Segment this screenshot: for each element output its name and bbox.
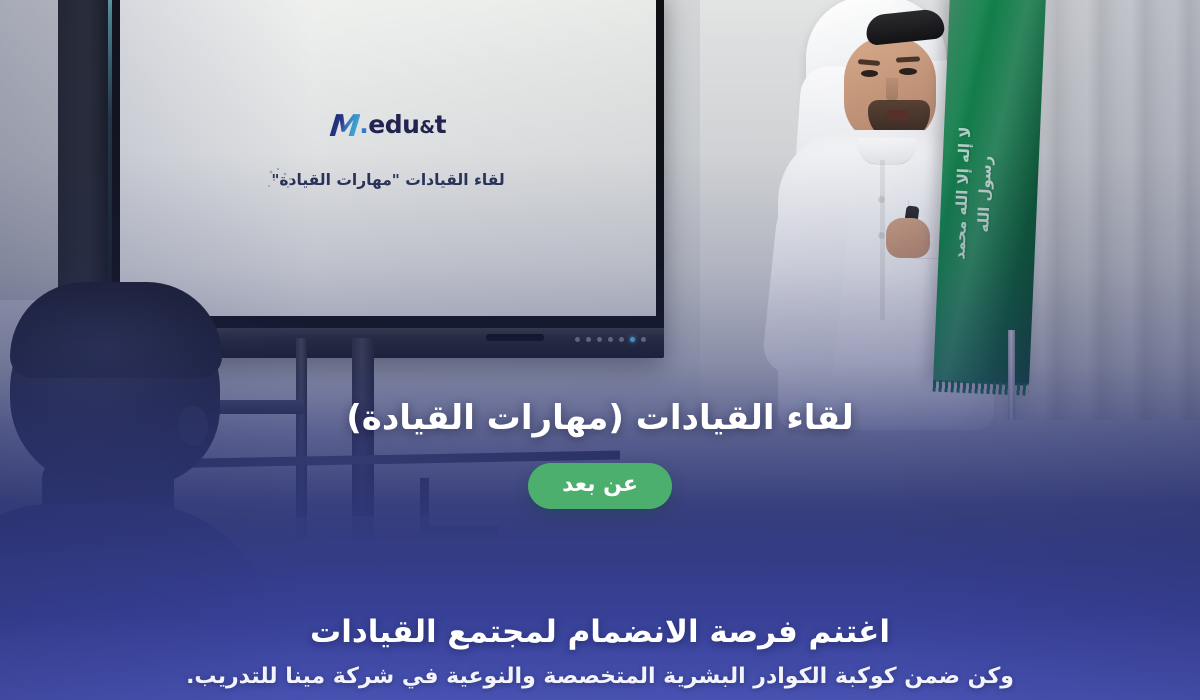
logo-m-icon: M xyxy=(328,109,361,144)
left-wall xyxy=(0,0,60,300)
flag-shahada-text: لا إله إلا الله محمد رسول الله xyxy=(947,102,1031,285)
logo-word: edu xyxy=(368,110,419,139)
control-button-icon[interactable] xyxy=(597,337,602,342)
display-speaker xyxy=(486,334,544,341)
presenter-eye xyxy=(861,70,878,77)
attendee-hair xyxy=(10,282,222,378)
display-screen: M.edu&t لقاء القيادات "مهارات القيادة" xyxy=(120,0,656,316)
slide-logo: M.edu&t xyxy=(120,106,656,141)
presenter-eye xyxy=(899,68,917,75)
control-button-icon[interactable] xyxy=(619,337,624,342)
saudi-flag: لا إله إلا الله محمد رسول الله xyxy=(933,0,1046,386)
presenter-button xyxy=(878,196,885,203)
presenter-mouth xyxy=(886,110,910,120)
presenter-hand-left xyxy=(886,218,930,258)
badge-wrapper: عن بعد xyxy=(0,463,1200,509)
cta-subtext: وكن ضمن كوكبة الكوادر البشرية المتخصصة و… xyxy=(40,663,1160,692)
logo-ampersand: & xyxy=(419,117,434,138)
page-title: لقاء القيادات (مهارات القيادة) xyxy=(0,398,1200,439)
promo-banner: M.edu&t لقاء القيادات "مهارات القيادة" xyxy=(0,0,1200,700)
power-indicator-icon xyxy=(641,337,646,342)
presenter-placket xyxy=(880,160,885,320)
sparkle-decoration xyxy=(266,166,296,192)
status-led-icon xyxy=(630,337,635,342)
hero-block: لقاء القيادات (مهارات القيادة) عن بعد xyxy=(0,398,1200,509)
presenter-nose xyxy=(886,78,898,102)
slide-subtitle: لقاء القيادات "مهارات القيادة" xyxy=(120,171,656,189)
control-button-icon[interactable] xyxy=(608,337,613,342)
logo-tail: t xyxy=(435,110,446,139)
cta-headline: اغتنم فرصة الانضمام لمجتمع القيادات xyxy=(40,613,1160,652)
presenter-button xyxy=(878,232,885,239)
door-frame xyxy=(58,0,113,300)
control-button-icon[interactable] xyxy=(586,337,591,342)
display-controls[interactable] xyxy=(575,337,646,342)
status-badge[interactable]: عن بعد xyxy=(528,463,672,509)
presenter-collar xyxy=(858,138,916,165)
background-photo: M.edu&t لقاء القيادات "مهارات القيادة" xyxy=(0,0,1200,700)
control-button-icon[interactable] xyxy=(575,337,580,342)
cta-block: اغتنم فرصة الانضمام لمجتمع القيادات وكن … xyxy=(0,613,1200,692)
